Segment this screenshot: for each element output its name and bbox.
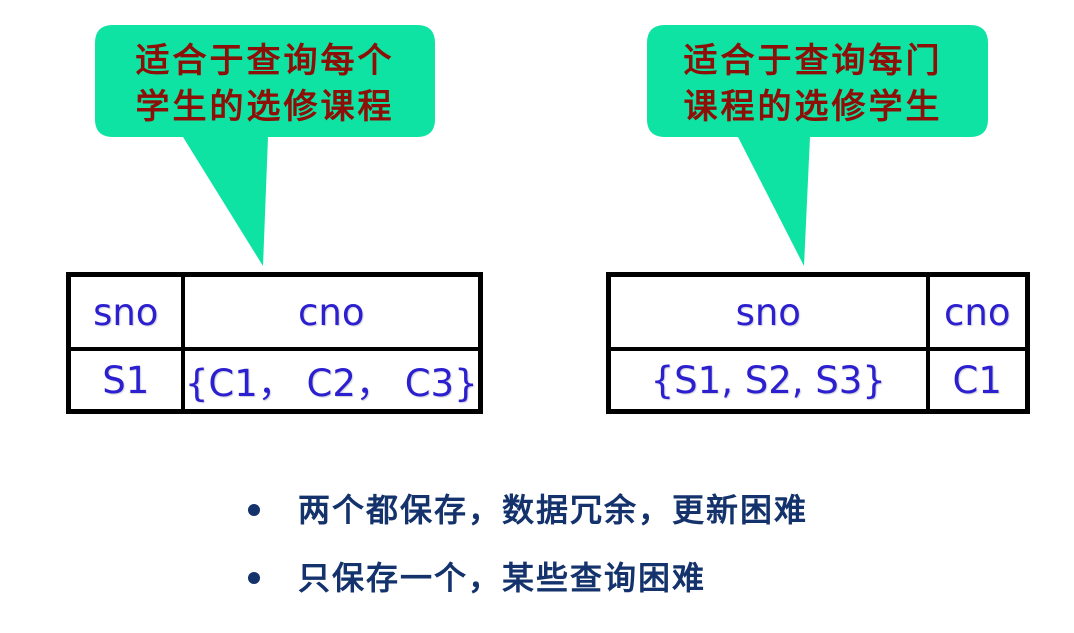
table-row: {S1, S2, S3} C1 <box>609 349 1028 412</box>
summary-bullet-list: 两个都保存，数据冗余，更新困难 只保存一个，某些查询困难 <box>236 487 1036 623</box>
column-header-sno: sno <box>609 275 928 350</box>
cell-sno-value: S1 <box>69 349 183 412</box>
bullet-dot-icon <box>248 504 260 516</box>
callout-left-line-1: 适合于查询每个 <box>95 38 435 84</box>
list-item-label: 两个都保存，数据冗余，更新困难 <box>298 491 808 529</box>
cell-cno-value: {C1， C2， C3} <box>183 349 481 412</box>
callout-right-line-1: 适合于查询每门 <box>648 38 978 84</box>
callout-right-text: 适合于查询每门 课程的选修学生 <box>648 38 978 130</box>
callout-left-text: 适合于查询每个 学生的选修课程 <box>95 38 435 130</box>
cell-cno-value: C1 <box>928 349 1028 412</box>
callout-left-line-2: 学生的选修课程 <box>95 84 435 130</box>
table-row-header: sno cno <box>69 275 481 350</box>
table-course-to-students: sno cno {S1, S2, S3} C1 <box>606 272 1030 414</box>
table-row-header: sno cno <box>609 275 1028 350</box>
list-item-label: 只保存一个，某些查询困难 <box>298 559 706 597</box>
bullet-dot-icon <box>248 572 260 584</box>
column-header-sno: sno <box>69 275 183 350</box>
column-header-cno: cno <box>928 275 1028 350</box>
table-student-to-courses: sno cno S1 {C1， C2， C3} <box>66 272 483 414</box>
callout-right-line-2: 课程的选修学生 <box>648 84 978 130</box>
list-item: 两个都保存，数据冗余，更新困难 <box>236 487 1036 533</box>
list-item: 只保存一个，某些查询困难 <box>236 555 1036 601</box>
column-header-cno: cno <box>183 275 481 350</box>
table-row: S1 {C1， C2， C3} <box>69 349 481 412</box>
cell-sno-value: {S1, S2, S3} <box>609 349 928 412</box>
